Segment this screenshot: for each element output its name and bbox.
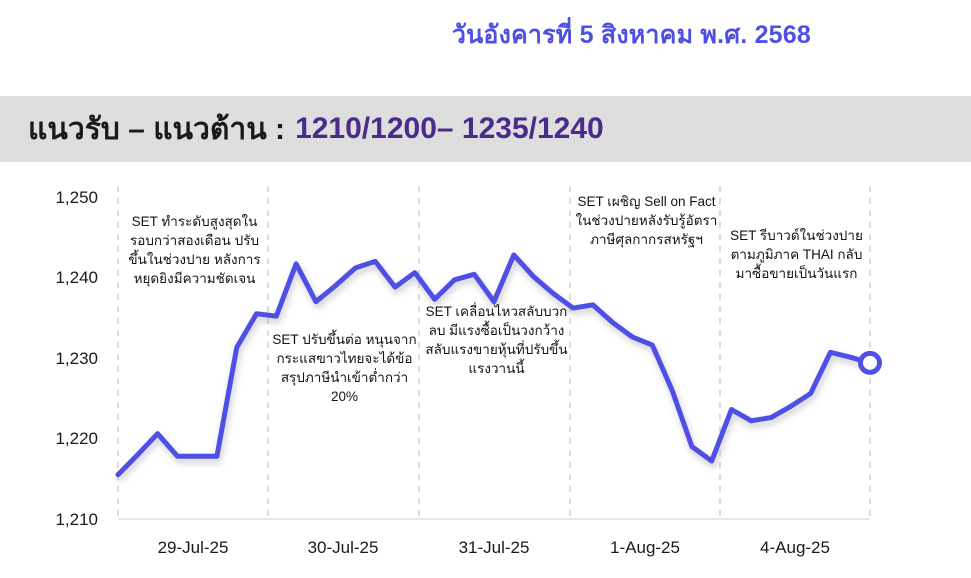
x-tick-30-jul-25: 30-Jul-25 xyxy=(268,538,418,558)
x-tick-29-jul-25: 29-Jul-25 xyxy=(118,538,268,558)
y-tick-1230: 1,230 xyxy=(28,349,98,369)
x-tick-1-aug-25: 1-Aug-25 xyxy=(570,538,720,558)
annotation-2: SET ปรับขึ้นต่อ หนุนจากกระแสฃาวไทยจะได้ข… xyxy=(272,330,417,407)
support-resistance-label: แนวรับ – แนวต้าน : xyxy=(28,106,285,153)
annotation-1: SET ทำระดับสูงสุดในรอบกว่าสองเดือน ปรับข… xyxy=(122,212,267,289)
annotation-5: SET รีบาวด์ในช่วงปายตามภูมิภาค THAI กลับ… xyxy=(724,226,869,283)
y-tick-1250: 1,250 xyxy=(28,188,98,208)
date-header: วันอังคารที่ 5 สิงหาคม พ.ศ. 2568 xyxy=(0,10,971,60)
support-resistance-banner: แนวรับ – แนวต้าน : 1210/1200– 1235/1240 xyxy=(0,96,971,162)
annotation-4: SET เผชิญ Sell on Fact ในช่วงปายหลังรับร… xyxy=(574,192,719,249)
y-tick-1220: 1,220 xyxy=(28,429,98,449)
slide-root: วันอังคารที่ 5 สิงหาคม พ.ศ. 2568 แนวรับ … xyxy=(0,0,971,578)
x-tick-31-jul-25: 31-Jul-25 xyxy=(419,538,569,558)
set-index-line-chart: 1,250 1,240 1,230 1,220 1,210 29-Jul-25 … xyxy=(0,170,971,578)
y-tick-1240: 1,240 xyxy=(28,268,98,288)
last-point-marker xyxy=(861,353,880,372)
y-tick-1210: 1,210 xyxy=(28,510,98,530)
annotation-3: SET เคลื่อนไหวสลับบวกลบ มีแรงซื้อเป็นวงก… xyxy=(424,302,569,379)
support-resistance-values: 1210/1200– 1235/1240 xyxy=(295,112,604,146)
x-tick-4-aug-25: 4-Aug-25 xyxy=(720,538,870,558)
date-text: วันอังคารที่ 5 สิงหาคม พ.ศ. 2568 xyxy=(452,15,811,55)
